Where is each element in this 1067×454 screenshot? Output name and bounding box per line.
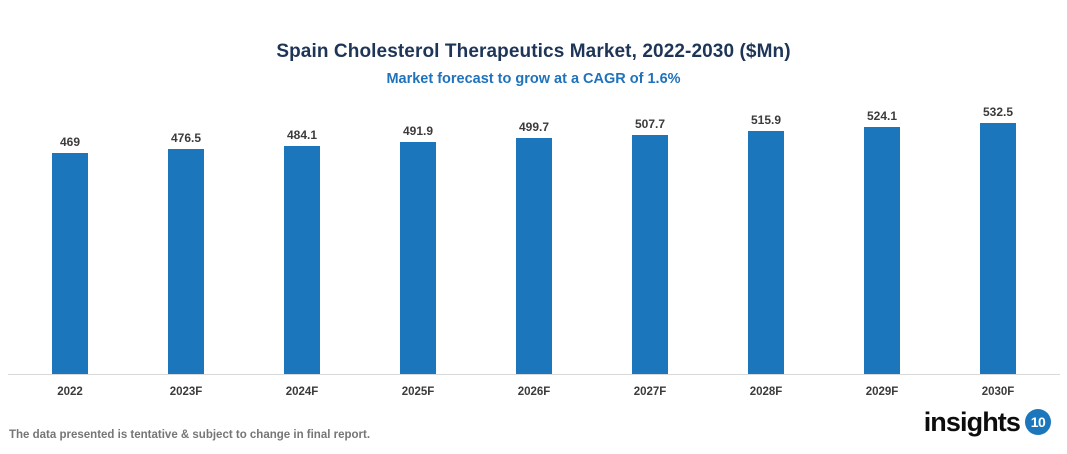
bar-value-label: 491.9 (403, 124, 433, 138)
chart-page: Spain Cholesterol Therapeutics Market, 2… (0, 0, 1067, 454)
bar[interactable] (864, 127, 900, 374)
bar-value-label: 476.5 (171, 131, 201, 145)
bar-slot: 515.9 (708, 110, 824, 374)
bar-value-label: 507.7 (635, 117, 665, 131)
bar-slot: 524.1 (824, 110, 940, 374)
bar[interactable] (52, 153, 88, 374)
bar[interactable] (168, 149, 204, 374)
insights10-logo: insights 10 (924, 405, 1051, 439)
category-label: 2028F (750, 386, 783, 398)
bar-value-label: 499.7 (519, 120, 549, 134)
category-label: 2024F (286, 386, 319, 398)
category-tick: 2029F (824, 376, 940, 400)
bar-column[interactable] (516, 138, 552, 374)
bar-value-label: 469 (60, 135, 80, 149)
bar-slot: 532.5 (940, 110, 1056, 374)
chart-subtitle: Market forecast to grow at a CAGR of 1.6… (0, 69, 1067, 89)
plot-area: 469476.5484.1491.9499.7507.7515.9524.153… (8, 110, 1060, 375)
bar-column[interactable] (980, 123, 1016, 374)
bar-value-label: 515.9 (751, 113, 781, 127)
category-tick: 2022 (12, 376, 128, 400)
category-tick: 2025F (360, 376, 476, 400)
bar[interactable] (980, 123, 1016, 374)
bar-value-label: 484.1 (287, 128, 317, 142)
category-label: 2030F (982, 386, 1015, 398)
category-label: 2026F (518, 386, 551, 398)
category-tick: 2024F (244, 376, 360, 400)
category-tick: 2028F (708, 376, 824, 400)
bar-column[interactable] (632, 135, 668, 374)
category-tick: 2023F (128, 376, 244, 400)
bar[interactable] (284, 146, 320, 374)
bar-column[interactable] (748, 131, 784, 374)
bar-slot: 507.7 (592, 110, 708, 374)
bar-column[interactable] (168, 149, 204, 374)
category-label: 2023F (170, 386, 203, 398)
bar[interactable] (748, 131, 784, 374)
logo-wordmark: insights (924, 408, 1020, 436)
bar-slot: 469 (12, 110, 128, 374)
category-tick: 2030F (940, 376, 1056, 400)
category-label: 2027F (634, 386, 667, 398)
category-axis: 20222023F2024F2025F2026F2027F2028F2029F2… (8, 376, 1060, 400)
bar-column[interactable] (284, 146, 320, 374)
footer-disclaimer: The data presented is tentative & subjec… (9, 429, 370, 441)
bar-column[interactable] (400, 142, 436, 374)
category-label: 2025F (402, 386, 435, 398)
bar-column[interactable] (52, 153, 88, 374)
bar[interactable] (516, 138, 552, 374)
category-tick: 2026F (476, 376, 592, 400)
category-label: 2029F (866, 386, 899, 398)
x-axis-line (8, 374, 1060, 375)
bar-slot: 484.1 (244, 110, 360, 374)
bar-slot: 491.9 (360, 110, 476, 374)
bar-slot: 476.5 (128, 110, 244, 374)
category-tick: 2027F (592, 376, 708, 400)
category-label: 2022 (57, 386, 83, 398)
page-title: Spain Cholesterol Therapeutics Market, 2… (0, 40, 1067, 64)
title-block: Spain Cholesterol Therapeutics Market, 2… (0, 40, 1067, 89)
bar-slot: 499.7 (476, 110, 592, 374)
bar-column[interactable] (864, 127, 900, 374)
bar[interactable] (400, 142, 436, 374)
bar[interactable] (632, 135, 668, 374)
bar-value-label: 524.1 (867, 109, 897, 123)
logo-badge-icon: 10 (1025, 409, 1051, 435)
bar-value-label: 532.5 (983, 105, 1013, 119)
